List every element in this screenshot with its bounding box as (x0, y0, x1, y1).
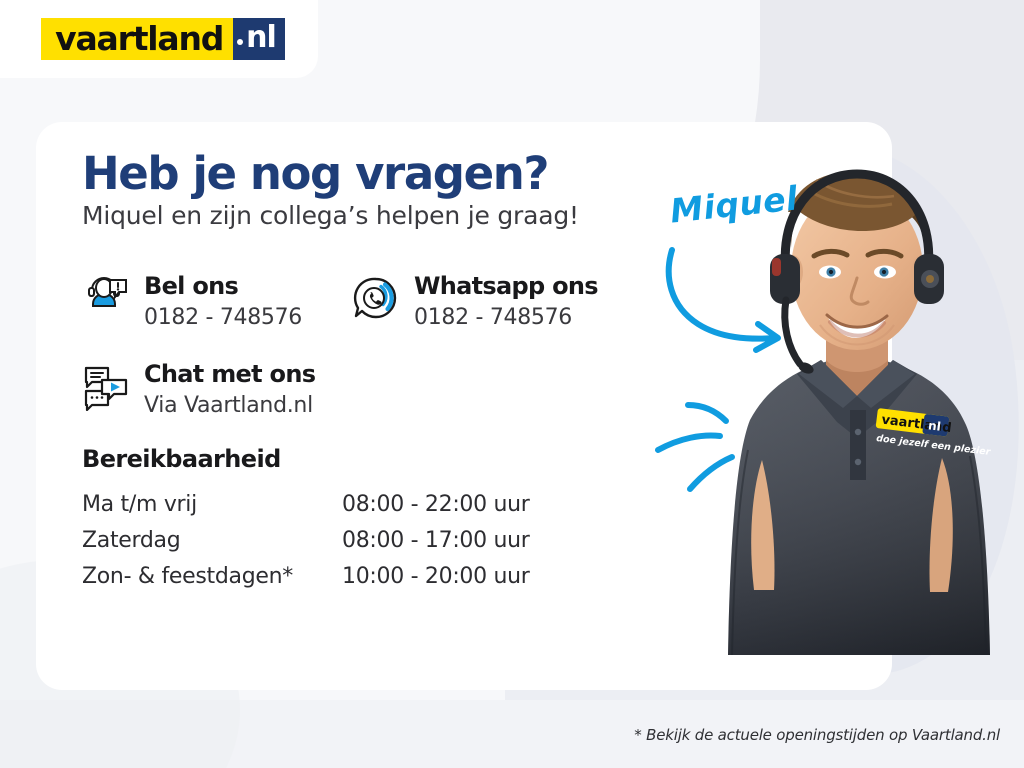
whatsapp-icon (352, 275, 400, 323)
agent-callout: Miquel (650, 185, 870, 375)
contact-item-chat-texts: Chat met ons Via Vaartland.nl (144, 361, 315, 420)
availability-time: 10:00 - 20:00 uur (342, 559, 530, 595)
availability-title: Bereikbaarheid (82, 445, 642, 473)
brand-logo-navy-block: nl (233, 18, 285, 60)
contact-item-whatsapp-title: Whatsapp ons (414, 273, 598, 301)
brand-logo-dot-icon (237, 39, 243, 45)
contact-item-call-texts: Bel ons 0182 - 748576 (144, 273, 302, 332)
page-title: Heb je nog vragen? (82, 150, 642, 197)
table-row: Zaterdag 08:00 - 17:00 uur (82, 523, 530, 559)
contact-item-chat-value: Via Vaartland.nl (144, 392, 315, 421)
brand-logo: vaartland nl (41, 18, 285, 60)
brand-logo-card[interactable]: vaartland nl (0, 0, 318, 78)
availability-time: 08:00 - 22:00 uur (342, 487, 530, 523)
contact-item-whatsapp-texts: Whatsapp ons 0182 - 748576 (414, 273, 598, 332)
speed-lines-icon (648, 365, 778, 495)
callout-arrow-icon (650, 240, 830, 360)
table-row: Ma t/m vrij 08:00 - 22:00 uur (82, 487, 530, 523)
availability-day: Ma t/m vrij (82, 487, 342, 523)
agent-name-label: Miquel (668, 178, 799, 230)
contact-item-chat-title: Chat met ons (144, 361, 315, 389)
contact-methods: Bel ons 0182 - 748576 Whatsapp ons (82, 273, 642, 445)
svg-text:nl: nl (927, 418, 941, 433)
availability-section: Bereikbaarheid Ma t/m vrij 08:00 - 22:00… (82, 445, 642, 594)
availability-day: Zaterdag (82, 523, 342, 559)
brand-logo-word: vaartland (55, 22, 223, 55)
headset-person-icon (82, 275, 130, 323)
table-row: Zon- & feestdagen* 10:00 - 20:00 uur (82, 559, 530, 595)
brand-logo-yellow-block: vaartland (41, 18, 233, 60)
footer-note: * Bekijk de actuele openingstijden op Va… (634, 726, 1000, 744)
content-inner: Heb je nog vragen? Miquel en zijn colleg… (82, 150, 642, 594)
contact-item-call[interactable]: Bel ons 0182 - 748576 (82, 273, 302, 332)
availability-time: 08:00 - 17:00 uur (342, 523, 530, 559)
availability-table: Ma t/m vrij 08:00 - 22:00 uur Zaterdag 0… (82, 487, 530, 594)
contact-item-call-title: Bel ons (144, 273, 302, 301)
brand-logo-tld: nl (246, 23, 276, 53)
availability-day: Zon- & feestdagen* (82, 559, 342, 595)
page-subtitle: Miquel en zijn collega’s helpen je graag… (82, 201, 642, 231)
contact-item-call-value: 0182 - 748576 (144, 304, 302, 333)
chat-bubbles-icon (82, 363, 130, 411)
contact-item-whatsapp-value: 0182 - 748576 (414, 304, 598, 333)
contact-item-whatsapp[interactable]: Whatsapp ons 0182 - 748576 (352, 273, 598, 332)
contact-item-chat[interactable]: Chat met ons Via Vaartland.nl (82, 361, 315, 420)
